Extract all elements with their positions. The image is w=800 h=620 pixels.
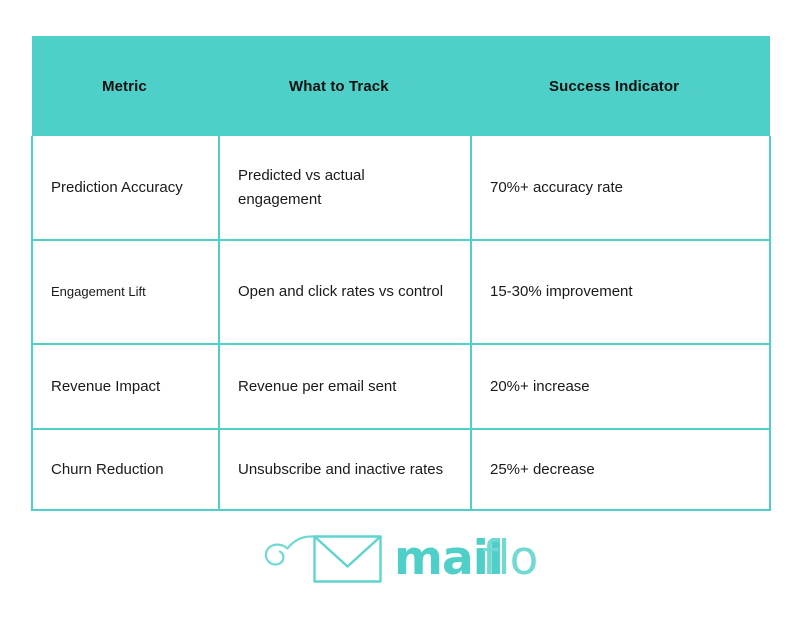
cell-success-indicator: 20%+ increase (471, 344, 770, 429)
envelope-icon (315, 537, 381, 582)
column-header-what-to-track: What to Track (219, 36, 471, 136)
cell-success-indicator: 70%+ accuracy rate (471, 136, 770, 240)
cell-what-to-track: Revenue per email sent (219, 344, 471, 429)
table-row: Revenue Impact Revenue per email sent 20… (32, 344, 770, 429)
cell-success-indicator: 25%+ decrease (471, 429, 770, 510)
column-header-metric: Metric (32, 36, 219, 136)
cell-metric: Revenue Impact (32, 344, 219, 429)
cell-what-to-track: Unsubscribe and inactive rates (219, 429, 471, 510)
cell-success-indicator: 15-30% improvement (471, 240, 770, 344)
table-header-row: Metric What to Track Success Indicator (32, 36, 770, 136)
table-header: Metric What to Track Success Indicator (32, 36, 770, 136)
cell-what-to-track: Predicted vs actual engagement (219, 136, 471, 240)
floss-curl-icon (266, 537, 315, 565)
cell-what-to-track: Open and click rates vs control (219, 240, 471, 344)
column-header-success-indicator: Success Indicator (471, 36, 770, 136)
metrics-table: Metric What to Track Success Indicator P… (31, 36, 771, 511)
brand-logo: mail floss (0, 524, 800, 602)
cell-metric: Engagement Lift (32, 240, 219, 344)
table-body: Prediction Accuracy Predicted vs actual … (32, 136, 770, 510)
wordmark-floss: floss (482, 531, 540, 586)
cell-metric: Prediction Accuracy (32, 136, 219, 240)
table-row: Churn Reduction Unsubscribe and inactive… (32, 429, 770, 510)
mailfloss-logo-svg: mail floss (260, 524, 540, 602)
cell-metric: Churn Reduction (32, 429, 219, 510)
table-row: Engagement Lift Open and click rates vs … (32, 240, 770, 344)
table-row: Prediction Accuracy Predicted vs actual … (32, 136, 770, 240)
